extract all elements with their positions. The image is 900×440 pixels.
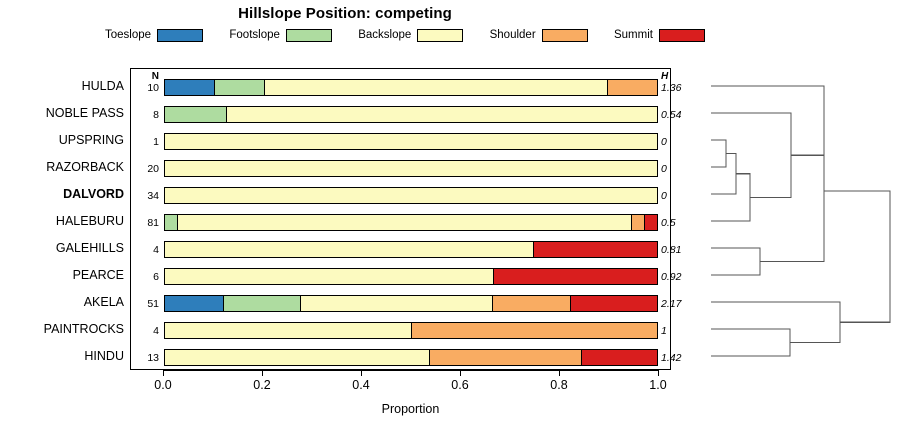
bar-row [164, 295, 658, 312]
x-tick-label: 0.4 [341, 378, 381, 392]
row-label-galehills: GALEHILLS [0, 241, 124, 255]
bar-segment-summit [571, 296, 657, 311]
bar-segment-footslope [165, 215, 178, 230]
bar-row [164, 79, 658, 96]
x-tick-mark [559, 370, 560, 376]
x-axis-line [163, 370, 658, 371]
dendro-link-c-noblepass [711, 113, 791, 197]
bar-segment-shoulder [430, 350, 582, 365]
x-tick-label: 0.6 [440, 378, 480, 392]
legend: ToeslopeFootslopeBackslopeShoulderSummit [105, 26, 705, 44]
x-tick-mark [658, 370, 659, 376]
bar-segment-summit [582, 350, 657, 365]
bar-segment-backslope [165, 269, 494, 284]
dendro-link-a-dalvord [711, 154, 736, 195]
bar-row [164, 268, 658, 285]
x-tick-mark [460, 370, 461, 376]
x-tick-label: 0.2 [242, 378, 282, 392]
dendro-link-upspring-razorback [711, 140, 726, 167]
legend-item-label: Toeslope [105, 29, 151, 41]
row-label-hindu: HINDU [0, 349, 124, 363]
x-tick-mark [262, 370, 263, 376]
row-label-hulda: HULDA [0, 79, 124, 93]
x-tick-mark [163, 370, 164, 376]
bar-segment-toeslope [165, 80, 215, 95]
dendrogram-svg [690, 60, 900, 380]
dendrogram [690, 60, 900, 380]
legend-item-backslope: Backslope [358, 29, 463, 42]
bar-segment-footslope [215, 80, 265, 95]
row-n-value: 81 [133, 217, 159, 229]
bar-segment-summit [494, 269, 658, 284]
legend-swatch-toeslope [157, 29, 203, 42]
x-tick-label: 1.0 [638, 378, 678, 392]
bar-row [164, 349, 658, 366]
bar-segment-backslope [165, 323, 412, 338]
bar-row [164, 106, 658, 123]
dendro-link-b-haleburu [711, 174, 750, 221]
legend-item-label: Footslope [229, 29, 280, 41]
legend-swatch-shoulder [542, 29, 588, 42]
x-axis-title: Proportion [163, 402, 658, 416]
legend-swatch-backslope [417, 29, 463, 42]
row-n-value: 51 [133, 298, 159, 310]
bar-segment-backslope [178, 215, 632, 230]
dendro-link-d-hulda [711, 86, 824, 155]
legend-item-shoulder: Shoulder [490, 29, 588, 42]
bar-segment-backslope [301, 296, 493, 311]
bar-segment-shoulder [632, 215, 645, 230]
stacked-bar-plot-panel [130, 68, 671, 370]
row-label-razorback: RAZORBACK [0, 160, 124, 174]
bar-segment-backslope [165, 242, 534, 257]
bar-segment-footslope [224, 296, 302, 311]
dendro-link-upper-e [760, 121, 824, 262]
legend-item-label: Backslope [358, 29, 411, 41]
bar-row [164, 214, 658, 231]
bar-segment-backslope [165, 134, 657, 149]
legend-item-footslope: Footslope [229, 29, 332, 42]
x-tick-label: 0.8 [539, 378, 579, 392]
row-n-value: 20 [133, 163, 159, 175]
row-label-pearce: PEARCE [0, 268, 124, 282]
figure-root: Hillslope Position: competing ToeslopeFo… [0, 0, 900, 440]
dendro-link-paintrocks-hindu [711, 329, 790, 356]
legend-swatch-summit [659, 29, 705, 42]
bar-row [164, 241, 658, 258]
bar-segment-shoulder [608, 80, 657, 95]
bar-segment-toeslope [165, 296, 224, 311]
bar-row [164, 160, 658, 177]
x-tick-label: 0.0 [143, 378, 183, 392]
bar-row [164, 133, 658, 150]
bar-segment-backslope [227, 107, 657, 122]
row-n-value: 6 [133, 271, 159, 283]
bar-segment-shoulder [412, 323, 658, 338]
legend-swatch-footslope [286, 29, 332, 42]
row-label-haleburu: HALEBURU [0, 214, 124, 228]
row-label-akela: AKELA [0, 295, 124, 309]
legend-item-label: Shoulder [490, 29, 536, 41]
row-label-paintrocks: PAINTROCKS [0, 322, 124, 336]
x-tick-mark [361, 370, 362, 376]
bar-segment-footslope [165, 107, 227, 122]
row-label-upspring: UPSPRING [0, 133, 124, 147]
bar-segment-summit [645, 215, 657, 230]
dendro-link-root [824, 191, 890, 322]
bar-row [164, 187, 658, 204]
bar-segment-shoulder [493, 296, 571, 311]
bar-segment-backslope [265, 80, 608, 95]
row-label-noble-pass: NOBLE PASS [0, 106, 124, 120]
legend-item-summit: Summit [614, 29, 705, 42]
bar-segment-summit [534, 242, 657, 257]
row-n-value: 34 [133, 190, 159, 202]
dendro-link-galehills-pearce [711, 248, 760, 275]
row-n-value: 13 [133, 352, 159, 364]
row-n-value: 4 [133, 325, 159, 337]
bar-segment-backslope [165, 350, 430, 365]
row-n-value: 4 [133, 244, 159, 256]
row-n-value: 1 [133, 136, 159, 148]
row-n-value: 8 [133, 109, 159, 121]
dendro-link-akela-f [711, 302, 840, 343]
column-header-n: N [133, 71, 159, 82]
legend-item-label: Summit [614, 29, 653, 41]
row-n-value: 10 [133, 82, 159, 94]
legend-item-toeslope: Toeslope [105, 29, 203, 42]
bar-row [164, 322, 658, 339]
bar-segment-backslope [165, 161, 657, 176]
bar-segment-backslope [165, 188, 657, 203]
page-title: Hillslope Position: competing [0, 5, 690, 22]
row-label-dalvord: DALVORD [0, 187, 124, 201]
